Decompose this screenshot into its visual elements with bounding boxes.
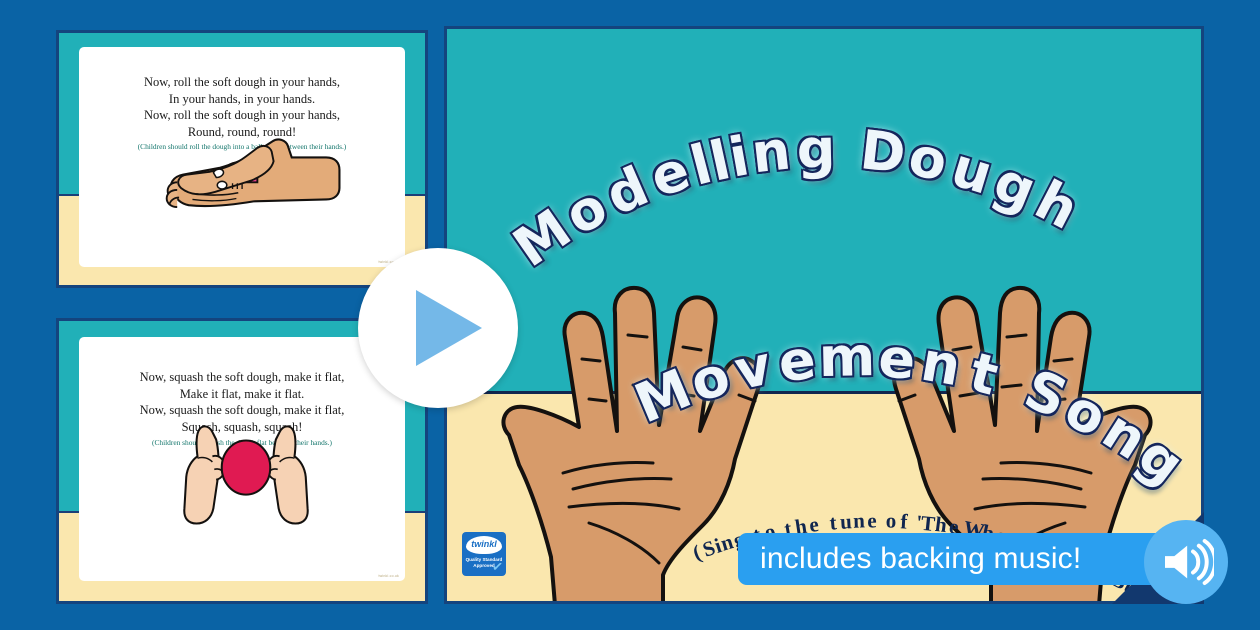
thumb1-white-card: Now, roll the soft dough in your hands, … bbox=[79, 47, 405, 267]
twinkl-brand-label: twinkl bbox=[462, 539, 506, 549]
slide-title-line-1: ModellingDough bbox=[447, 89, 1201, 209]
lyric-line: In your hands, in your hands. bbox=[79, 91, 405, 108]
banner-label: includes backing music! bbox=[760, 542, 1081, 576]
lyric-line: Now, roll the soft dough in your hands, bbox=[79, 74, 405, 91]
thumb2-illustration-hands-squashing-dough bbox=[171, 419, 321, 531]
thumb2-watermark: twinkl.co.uk bbox=[379, 574, 400, 578]
thumb2-white-card: Now, squash the soft dough, make it flat… bbox=[79, 337, 405, 581]
title-slide-preview[interactable]: ModellingDough MovementSong (Singtothetu… bbox=[444, 26, 1204, 604]
checkmark-icon: ✓ bbox=[491, 558, 504, 575]
lyric-line: Now, roll the soft dough in your hands, bbox=[79, 107, 405, 124]
lyric-line: Make it flat, make it flat. bbox=[79, 386, 405, 403]
thumb1-illustration-hands-rolling-dough bbox=[139, 125, 349, 230]
speaker-volume-icon bbox=[1144, 520, 1228, 604]
play-triangle-icon bbox=[416, 290, 482, 366]
includes-backing-music-banner: includes backing music! bbox=[738, 533, 1168, 585]
twinkl-quality-standard-badge: twinkl Quality Standard Approved ✓ bbox=[462, 532, 506, 576]
lyric-line: Now, squash the soft dough, make it flat… bbox=[79, 369, 405, 386]
resource-preview-stage: Now, roll the soft dough in your hands, … bbox=[0, 0, 1260, 630]
play-button[interactable] bbox=[358, 248, 518, 408]
slide-thumbnail-roll[interactable]: Now, roll the soft dough in your hands, … bbox=[56, 30, 428, 288]
lyric-line: Now, squash the soft dough, make it flat… bbox=[79, 402, 405, 419]
